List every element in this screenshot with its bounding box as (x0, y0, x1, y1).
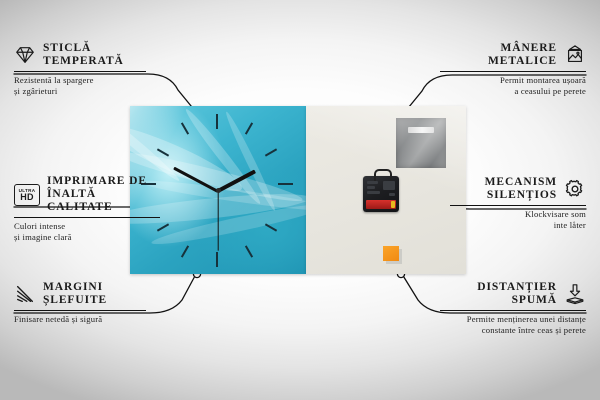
callout-rule (450, 205, 586, 206)
beveled-edges-icon (14, 283, 36, 305)
callout-header: MECANISM SILENȚIOS (450, 176, 586, 202)
quartz-movement (363, 176, 399, 212)
clock-tick (245, 122, 253, 134)
battery-positive-tip (391, 201, 395, 208)
callout-subtitle: Klockvisare som inte låter (450, 209, 586, 230)
callout-subtitle: Rezistentă la spargere și zgârieturi (14, 75, 146, 96)
callout-subtitle: Permit montarea ușoară a ceasului pe per… (440, 75, 586, 96)
hanger-slot (408, 127, 434, 133)
callout-title: MÂNERE METALICE (488, 42, 557, 68)
callout-header: MÂNERE METALICE (440, 42, 586, 68)
clock-tick (278, 183, 293, 185)
press-down-pad-icon (564, 283, 586, 305)
callout-title: MARGINI ȘLEFUITE (43, 281, 107, 307)
foam-spacer-part (383, 246, 399, 261)
clock-tick (181, 122, 189, 134)
callout-rule (440, 310, 586, 311)
clock-back-panel (306, 106, 466, 274)
clock-second-hand (217, 191, 218, 251)
movement-hanging-loop (374, 169, 392, 182)
callout-polished-edges[interactable]: MARGINI ȘLEFUITE Finisare netedă și sigu… (14, 281, 146, 325)
callout-subtitle: Permite menținerea unei distanțe constan… (440, 314, 586, 335)
ultra-hd-icon: ultraHD (14, 184, 40, 206)
callout-silent-mechanism[interactable]: MECANISM SILENȚIOS Klockvisare som inte … (450, 176, 586, 230)
clock-tick (265, 148, 277, 156)
callout-subtitle: Culori intense și imagine clară (14, 221, 160, 242)
callout-title: IMPRIMARE DE ÎNALTĂ CALITATE (47, 175, 160, 214)
callout-foam-spacer[interactable]: DISTANȚIER SPUMĂ Permite menținerea unei… (440, 281, 586, 335)
gear-icon (564, 178, 586, 200)
callout-header: ultraHD IMPRIMARE DE ÎNALTĂ CALITATE (14, 175, 160, 214)
infographic-canvas: STICLĂ TEMPERATĂ Rezistentă la spargere … (0, 0, 600, 400)
clock-tick (181, 245, 189, 257)
callout-title: STICLĂ TEMPERATĂ (43, 42, 124, 68)
callout-rule (440, 71, 586, 72)
clock-center-hub (216, 188, 221, 193)
product-photo (130, 106, 466, 274)
callout-title: DISTANȚIER SPUMĂ (477, 281, 557, 307)
callout-rule (14, 310, 146, 311)
diamond-icon (14, 44, 36, 66)
callout-subtitle: Finisare netedă și sigură (14, 314, 146, 325)
clock-tick (216, 114, 218, 129)
callout-header: STICLĂ TEMPERATĂ (14, 42, 146, 68)
callout-high-quality-print[interactable]: ultraHD IMPRIMARE DE ÎNALTĂ CALITATE Cul… (14, 175, 160, 242)
clock-tick (245, 245, 253, 257)
callout-title: MECANISM SILENȚIOS (485, 176, 557, 202)
callout-metal-hangers[interactable]: MÂNERE METALICE Permit montarea ușoară a… (440, 42, 586, 96)
callout-tempered-glass[interactable]: STICLĂ TEMPERATĂ Rezistentă la spargere … (14, 42, 146, 96)
picture-frame-hanger-icon (564, 44, 586, 66)
clock-tick (216, 252, 218, 267)
callout-header: DISTANȚIER SPUMĂ (440, 281, 586, 307)
metal-hanger-plate (396, 118, 446, 168)
callout-rule (14, 217, 160, 218)
battery (366, 200, 396, 209)
clock-tick (265, 223, 277, 231)
callout-rule (14, 71, 146, 72)
callout-header: MARGINI ȘLEFUITE (14, 281, 146, 307)
